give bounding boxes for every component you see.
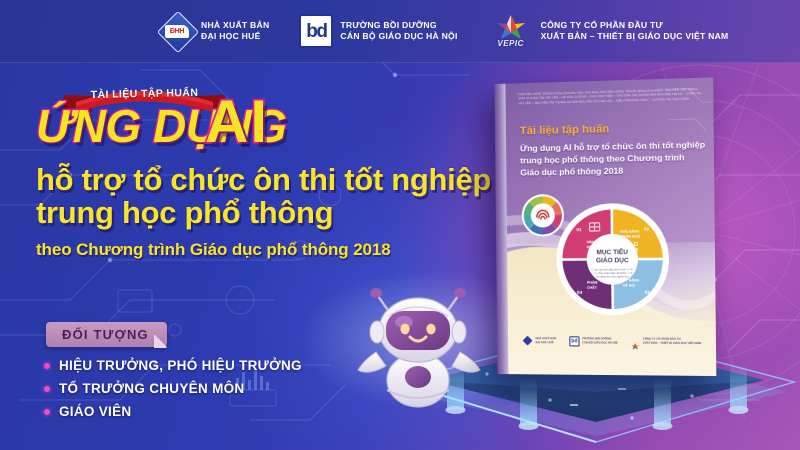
book-footer-logo-bd: bd TRƯỜNG BỒI DƯỠNG CÁN BỘ GIÁO DỤC HÀ N…	[569, 336, 617, 346]
book-title: Ứng dụng AI hỗ trợ tổ chức ôn thi tốt ng…	[520, 139, 707, 179]
footer-logo-line2: CÁN BỘ GIÁO DỤC HÀ NỘI	[582, 341, 618, 344]
vepic-wordmark: VEPIC	[488, 39, 534, 48]
wheel-seg-label-03: KỸ NĂNG	[623, 277, 640, 282]
list-item: GIÁO VIÊN	[44, 404, 302, 419]
dhh-diamond-icon: ĐHH	[160, 14, 194, 48]
logo-truong-boi-duong: bd TRƯỜNG BỒI DƯỠNG CÁN BỘ GIÁO DỤC HÀ N…	[299, 14, 457, 48]
svg-text:HỌC TẬP: HỌC TẬP	[587, 244, 604, 249]
footer-logo-line2: XUẤT BẢN – THIẾT BỊ GIÁO DỤC VIỆT NAM	[643, 342, 701, 345]
list-item: TỔ TRƯỞNG CHUYÊN MÔN	[44, 381, 302, 396]
bullet-dot-icon	[44, 363, 50, 369]
logo-label-line1: NHÀ XUẤT BẢN	[201, 20, 269, 30]
footer-logo-line2: ĐẠI HỌC HUẾ	[536, 341, 554, 344]
logo-label-line2: XUẤT BẢN – THIẾT BỊ GIÁO DỤC VIỆT NAM	[541, 31, 729, 43]
wheel-seg-label-01: NĂNG LỰC	[587, 239, 607, 244]
audience-item-label: TỔ TRƯỞNG CHUYÊN MÔN	[59, 381, 244, 396]
ai-robot-mascot	[352, 282, 484, 408]
headline-ai: AI	[205, 92, 269, 152]
audience-badge: ĐỐI TƯỢNG	[46, 322, 167, 347]
audience-item-label: GIÁO VIÊN	[59, 404, 131, 419]
headline-line3: trung học phổ thông	[36, 196, 333, 229]
audience-list: HIỆU TRƯỞNG, PHÓ HIỆU TRƯỞNG TỔ TRƯỞNG C…	[44, 358, 302, 427]
bd-mark: bd	[306, 22, 326, 41]
education-goal-wheel: MỤC TIÊU GIÁO DỤC Chương trình giáo dục …	[555, 202, 671, 317]
book-footer-logo-vepic: CÔNG TY CỔ PHẦN ĐẦU TƯ XUẤT BẢN – THIẾT …	[631, 337, 701, 347]
headline-line4: theo Chương trình Giáo dục phổ thông 201…	[36, 240, 391, 259]
vepic-star-icon	[631, 337, 640, 346]
book-footer-logo-dhh: NHÀ XUẤT BẢN ĐẠI HỌC HUẾ	[524, 337, 556, 346]
book-kicker: Tài liệu tập huấn	[520, 123, 610, 137]
logo-label-line1: CÔNG TY CỔ PHẦN ĐẦU TƯ	[541, 20, 663, 30]
logo-label-line1: TRƯỜNG BỒI DƯỠNG	[340, 20, 436, 30]
logo-label-line2: ĐẠI HỌC HUẾ	[201, 31, 269, 43]
wheel-center-line2: GIÁO DỤC	[596, 255, 629, 264]
poster-canvas: ĐHH NHÀ XUẤT BẢN ĐẠI HỌC HUẾ bd TRƯỜNG B…	[0, 0, 800, 450]
vepic-star-icon: VEPIC	[488, 14, 534, 48]
svg-text:XÃ HỘI: XÃ HỘI	[623, 283, 635, 288]
bd-square-icon: bd	[569, 336, 579, 346]
wheel-seg-number-01: 01	[576, 227, 582, 232]
list-item: HIỆU TRƯỞNG, PHÓ HIỆU TRƯỞNG	[44, 358, 302, 373]
svg-text:CHẤT: CHẤT	[587, 285, 598, 290]
bd-square-icon: bd	[299, 14, 333, 48]
dhh-diamond-icon	[524, 337, 533, 346]
partner-logo-header: ĐHH NHÀ XUẤT BẢN ĐẠI HỌC HUẾ bd TRƯỜNG B…	[0, 0, 800, 63]
wheel-seg-label-04: PHẨM	[587, 280, 598, 285]
book-front-face: NGUYỄN XUÂN THÀNH (Tổng Chủ biên kiêm Ch…	[505, 77, 716, 376]
book-footer-logos: NHÀ XUẤT BẢN ĐẠI HỌC HUẾ bd TRƯỜNG BỒI D…	[524, 336, 709, 347]
bullet-dot-icon	[44, 386, 50, 392]
wheel-seg-number-04: 04	[577, 290, 583, 295]
wheel-seg-number-02: 02	[644, 226, 650, 231]
logo-nxb-dai-hoc-hue: ĐHH NHÀ XUẤT BẢN ĐẠI HỌC HUẾ	[160, 14, 269, 48]
wheel-seg-number-03: 03	[644, 290, 650, 295]
dhh-mark: ĐHH	[170, 28, 184, 35]
logo-label-line2: CÁN BỘ GIÁO DỤC HÀ NỘI	[340, 31, 457, 43]
headline-line2: hỗ trợ tổ chức ôn thi tốt nghiệp	[36, 163, 491, 196]
bullet-dot-icon	[44, 409, 50, 415]
audience-item-label: HIỆU TRƯỞNG, PHÓ HIỆU TRƯỞNG	[59, 358, 302, 373]
wheel-seg-label-02: KHẢ NĂNG	[620, 228, 640, 233]
svg-text:NGÔN NGỮ: NGÔN NGỮ	[620, 234, 640, 239]
book-cover: NGUYỄN XUÂN THÀNH (Tổng Chủ biên kiêm Ch…	[494, 77, 716, 376]
logo-vepic: VEPIC CÔNG TY CỔ PHẦN ĐẦU TƯ XUẤT BẢN – …	[488, 14, 729, 48]
